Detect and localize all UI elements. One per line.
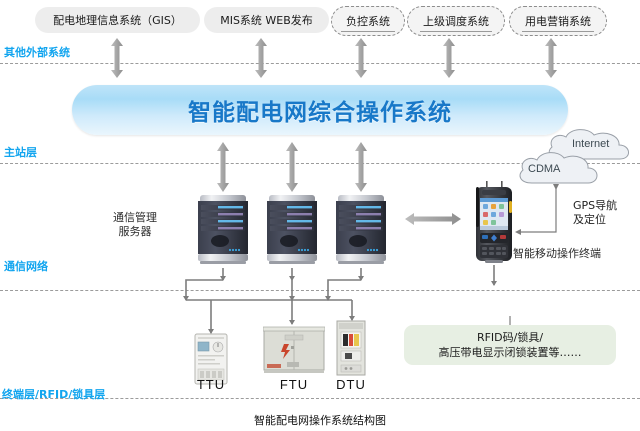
mobile-cloud-wires <box>518 186 556 232</box>
separator-network-terminal <box>0 290 640 291</box>
external-system-dispatch[interactable]: 上级调度系统 <box>407 6 505 36</box>
external-system-label: 用电营销系统 <box>525 13 591 29</box>
separator-external-master <box>0 63 640 64</box>
external-system-gis[interactable]: 配电地理信息系统（GIS） <box>35 7 200 33</box>
field-device-ftu <box>263 324 325 374</box>
field-device-label-ttu: TTU <box>186 377 236 392</box>
arrow-external-to-banner-group <box>111 38 557 78</box>
cloud-cdma-label: CDMA <box>528 163 560 175</box>
pill-underline <box>420 31 493 32</box>
rfid-note-line1: RFID码/锁具/ <box>477 330 543 345</box>
gps-line1: GPS导航 <box>573 199 617 213</box>
mobile-cloud-arrowheads <box>515 184 559 235</box>
figure-caption: 智能配电网操作系统结构图 <box>0 412 640 428</box>
layer-label-terminal: 终端层/RFID/锁具层 <box>2 386 105 402</box>
communication-server-2 <box>265 193 319 266</box>
mobile-terminal-label: 智能移动操作终端 <box>513 247 601 261</box>
main-system-title: 智能配电网综合操作系统 <box>188 93 452 127</box>
main-system-banner: 智能配电网综合操作系统 <box>72 85 568 135</box>
external-system-label: 上级调度系统 <box>423 13 489 29</box>
arrow-servers-to-mobile <box>405 213 461 225</box>
pill-underline <box>341 31 396 32</box>
layer-label-network: 通信网络 <box>4 258 48 274</box>
external-system-mis-web[interactable]: MIS系统 WEB发布 <box>204 7 329 33</box>
mobile-terminal-device <box>473 181 515 265</box>
external-system-label: MIS系统 WEB发布 <box>220 12 313 28</box>
communication-server-1 <box>196 193 250 266</box>
server-label-line1: 通信管理 <box>113 211 157 225</box>
external-system-load-control[interactable]: 负控系统 <box>331 6 405 36</box>
rfid-note-line2: 高压带电显示闭锁装置等…… <box>439 345 582 360</box>
communication-server-label: 通信管理 服务器 <box>113 211 157 239</box>
rfid-note-box: RFID码/锁具/ 高压带电显示闭锁装置等…… <box>404 325 616 365</box>
external-system-label: 配电地理信息系统（GIS） <box>53 12 182 28</box>
external-system-label: 负控系统 <box>346 13 390 29</box>
gps-annotation: GPS导航 及定位 <box>573 199 617 227</box>
field-device-label-ftu: FTU <box>269 377 319 392</box>
layer-label-master: 主站层 <box>4 144 37 160</box>
communication-server-3 <box>334 193 388 266</box>
layer-label-external: 其他外部系统 <box>4 44 70 60</box>
diagram-canvas: 其他外部系统 主站层 通信网络 终端层/RFID/锁具层 配电地理信息系统（GI… <box>0 0 640 431</box>
arrow-banner-to-servers-group <box>217 142 367 192</box>
pill-underline <box>522 31 595 32</box>
gps-line2: 及定位 <box>573 213 617 227</box>
field-device-dtu <box>336 320 366 376</box>
server-label-line2: 服务器 <box>113 225 157 239</box>
field-device-label-dtu: DTU <box>326 377 376 392</box>
external-system-marketing[interactable]: 用电营销系统 <box>509 6 607 36</box>
